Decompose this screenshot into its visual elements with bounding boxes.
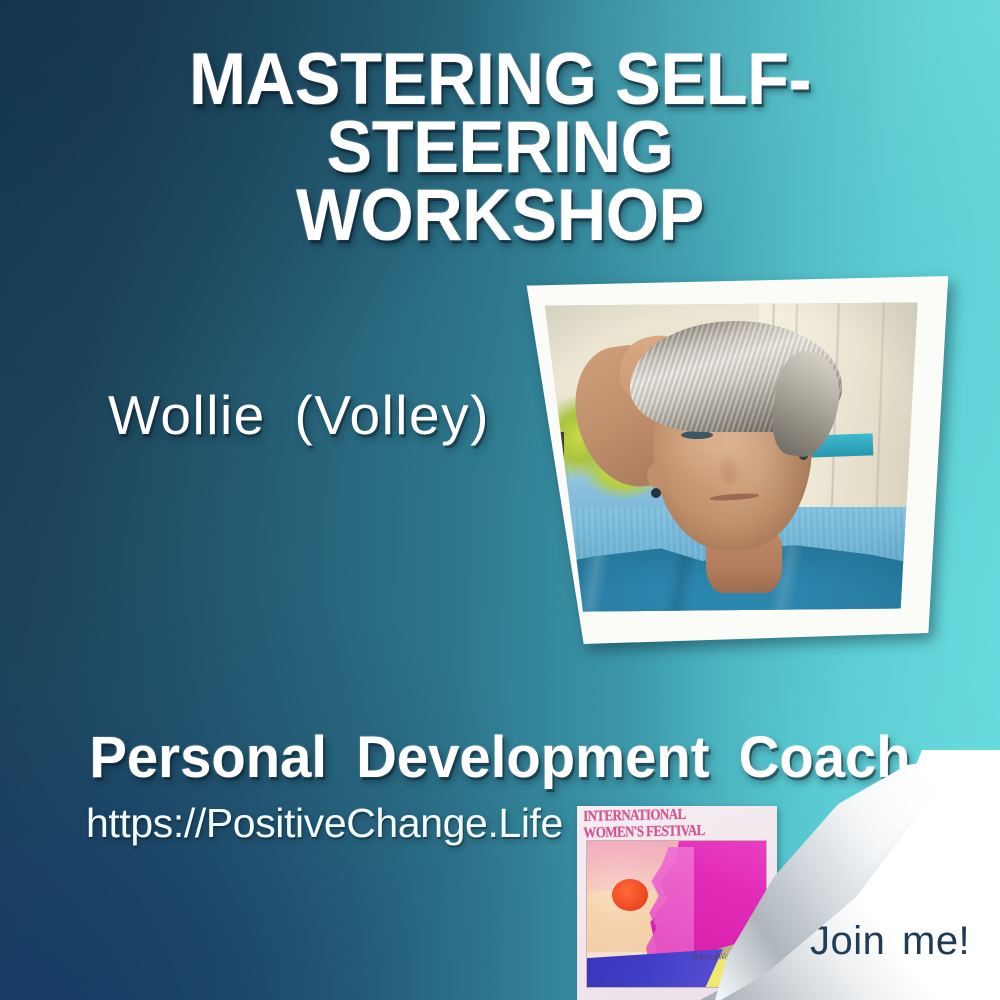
presenter-name: Wollie (Volley) xyxy=(108,383,490,447)
festival-art-sun xyxy=(612,879,648,911)
workshop-promo-poster: MASTERING SELF-STEERING WORKSHOP Wollie … xyxy=(0,0,1000,1000)
photo-color-grade xyxy=(540,302,918,611)
page-curl-icon: Join me! xyxy=(700,750,1000,1000)
portrait-photo xyxy=(540,302,918,611)
website-url[interactable]: https://PositiveChange.Life xyxy=(86,800,563,847)
page-title: MASTERING SELF-STEERING WORKSHOP xyxy=(30,46,970,250)
portrait-photo-frame xyxy=(518,276,950,644)
